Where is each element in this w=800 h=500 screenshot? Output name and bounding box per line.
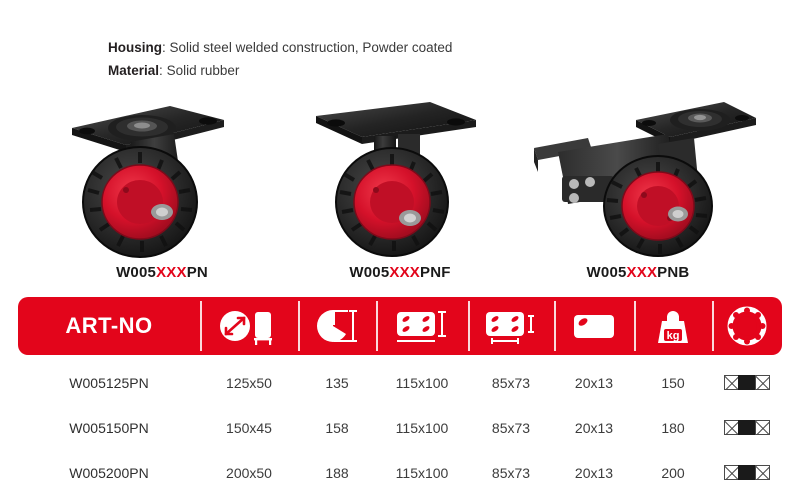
header-cell-capacity: kg xyxy=(634,297,712,355)
cell-overall-height: 188 xyxy=(298,465,376,481)
header-cell-plate-size xyxy=(376,297,468,355)
cell-bearing xyxy=(712,465,782,480)
cell-bearing xyxy=(712,420,782,435)
swivel-caster-brake-illustration xyxy=(518,90,758,262)
wheel-diameter-width-icon xyxy=(218,306,280,346)
art-no-label: ART-NO xyxy=(65,313,152,339)
header-cell-art-no: ART-NO xyxy=(18,297,200,355)
caption-variable: XXX xyxy=(627,264,658,281)
product-swivel-caster: W005XXXPN xyxy=(42,90,282,295)
cell-capacity: 200 xyxy=(634,465,712,481)
cell-plate-size: 115x100 xyxy=(376,465,468,481)
spec-line-material: Material: Solid rubber xyxy=(108,59,452,82)
caption-variable: XXX xyxy=(389,264,420,281)
spec-key-material: Material xyxy=(108,63,159,78)
header-cell-bearing xyxy=(712,297,782,355)
product-photo-rigid xyxy=(280,90,520,262)
table-row: W005200PN 200x50 188 115x100 85x73 20x13… xyxy=(18,455,782,490)
spec-line-housing: Housing: Solid steel welded construction… xyxy=(108,36,452,59)
cell-capacity: 180 xyxy=(634,420,712,436)
bolt-hole-pattern-icon xyxy=(482,306,540,346)
product-gallery: W005XXXPN xyxy=(0,90,800,295)
load-capacity-kg-icon: kg xyxy=(650,305,696,347)
header-cell-bolt-pattern xyxy=(468,297,554,355)
roller-bearing-symbol xyxy=(724,465,770,480)
caption-prefix: W005 xyxy=(587,264,627,281)
header-cell-wheel-size xyxy=(200,297,298,355)
cell-overall-height: 135 xyxy=(298,375,376,391)
table-body: W005125PN 125x50 135 115x100 85x73 20x13… xyxy=(18,365,782,490)
bolt-hole-size-icon xyxy=(569,308,619,344)
spec-key-housing: Housing xyxy=(108,40,162,55)
cell-plate-size: 115x100 xyxy=(376,420,468,436)
overall-height-icon xyxy=(313,306,361,346)
cell-bearing xyxy=(712,375,782,390)
cell-wheel-size: 200x50 xyxy=(200,465,298,481)
cell-art-no: W005150PN xyxy=(18,420,200,436)
cell-plate-size: 115x100 xyxy=(376,375,468,391)
spec-separator: : xyxy=(162,40,166,55)
bearing-type-icon xyxy=(726,305,768,347)
top-plate-size-icon xyxy=(393,306,451,346)
kg-unit-label: kg xyxy=(667,330,680,342)
table-row: W005150PN 150x45 158 115x100 85x73 20x13… xyxy=(18,410,782,445)
product-caption-swivel: W005XXXPN xyxy=(42,264,282,281)
cell-wheel-size: 150x45 xyxy=(200,420,298,436)
cell-bolt-hole: 20x13 xyxy=(554,465,634,481)
cell-wheel-size: 125x50 xyxy=(200,375,298,391)
rigid-caster-illustration xyxy=(280,90,520,262)
spec-value-material: Solid rubber xyxy=(167,63,240,78)
wheel xyxy=(83,147,197,257)
cell-bolt-hole: 20x13 xyxy=(554,375,634,391)
roller-bearing-symbol xyxy=(724,375,770,390)
cell-overall-height: 158 xyxy=(298,420,376,436)
specification-block: Housing: Solid steel welded construction… xyxy=(108,36,452,82)
cell-bolt-pattern: 85x73 xyxy=(468,465,554,481)
spec-value-housing: Solid steel welded construction, Powder … xyxy=(170,40,453,55)
cell-bolt-pattern: 85x73 xyxy=(468,375,554,391)
product-photo-brake xyxy=(518,90,758,262)
caption-suffix: PNB xyxy=(657,264,689,281)
wheel xyxy=(336,148,448,256)
caption-prefix: W005 xyxy=(349,264,389,281)
header-cell-overall-height xyxy=(298,297,376,355)
product-photo-swivel xyxy=(42,90,282,262)
product-rigid-caster: W005XXXPNF xyxy=(280,90,520,295)
product-caption-brake: W005XXXPNB xyxy=(518,264,758,281)
wheel xyxy=(604,156,712,256)
header-cell-bolt-hole xyxy=(554,297,634,355)
swivel-caster-illustration xyxy=(42,90,282,262)
caption-variable: XXX xyxy=(156,264,187,281)
table-header-row: ART-NO xyxy=(18,297,782,355)
cell-capacity: 150 xyxy=(634,375,712,391)
roller-bearing-symbol xyxy=(724,420,770,435)
cell-art-no: W005125PN xyxy=(18,375,200,391)
caption-suffix: PN xyxy=(187,264,208,281)
spec-separator: : xyxy=(159,63,163,78)
cell-art-no: W005200PN xyxy=(18,465,200,481)
caption-suffix: PNF xyxy=(420,264,451,281)
caption-prefix: W005 xyxy=(116,264,156,281)
specification-table: ART-NO xyxy=(18,297,782,490)
table-row: W005125PN 125x50 135 115x100 85x73 20x13… xyxy=(18,365,782,400)
cell-bolt-hole: 20x13 xyxy=(554,420,634,436)
product-caption-rigid: W005XXXPNF xyxy=(280,264,520,281)
product-swivel-caster-brake: W005XXXPNB xyxy=(518,90,758,295)
cell-bolt-pattern: 85x73 xyxy=(468,420,554,436)
